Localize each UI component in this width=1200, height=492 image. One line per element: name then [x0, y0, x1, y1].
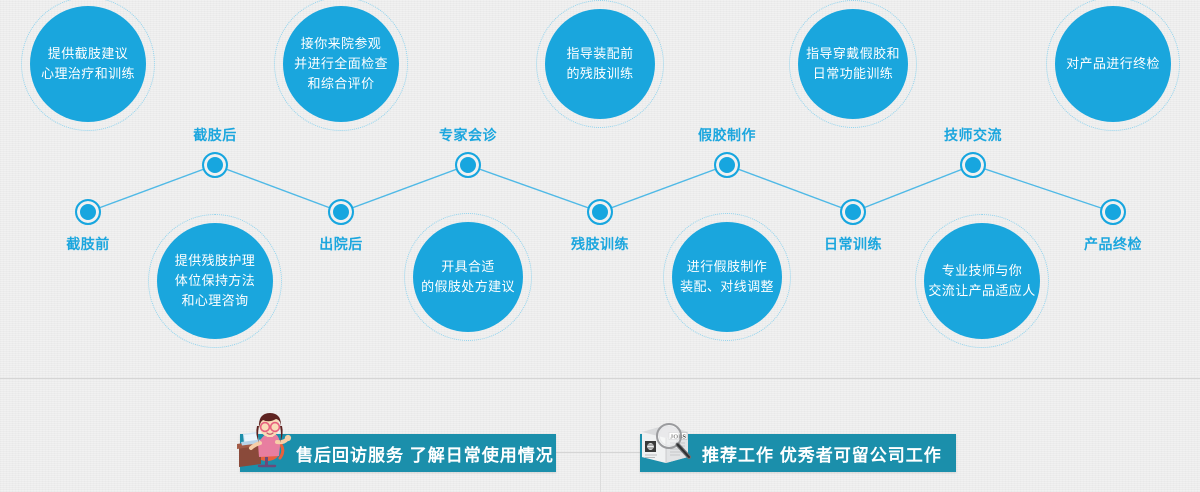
timeline-node-7[interactable] — [840, 199, 866, 225]
timeline-node-core — [593, 205, 607, 219]
timeline-node-9[interactable] — [1100, 199, 1126, 225]
timeline-node-5[interactable] — [587, 199, 613, 225]
timeline-node-8[interactable] — [960, 152, 986, 178]
timeline-node-label-4: 专家会诊 — [439, 125, 497, 145]
timeline-bubble-3[interactable]: 指导装配前 的残肢训练 — [545, 9, 655, 119]
timeline-node-label-5: 残肢训练 — [571, 234, 629, 254]
timeline-node-core — [720, 158, 734, 172]
woman-at-desk-icon — [236, 412, 294, 470]
timeline-node-label-2: 截肢后 — [193, 125, 237, 145]
timeline-node-3[interactable] — [328, 199, 354, 225]
timeline-node-4[interactable] — [455, 152, 481, 178]
timeline-node-core — [1106, 205, 1120, 219]
timeline-node-core — [334, 205, 348, 219]
timeline-bubble-2[interactable]: 接你来院参观 并进行全面检查 和综合评价 — [283, 6, 399, 122]
timeline-node-label-7: 日常训练 — [824, 234, 882, 254]
jobs-newspaper-magnifier-icon: JOBS — [636, 412, 694, 470]
banner-aftersales-label: 售后回访服务 了解日常使用情况 — [296, 441, 554, 466]
timeline-node-core — [81, 205, 95, 219]
timeline-node-core — [966, 158, 980, 172]
timeline-node-2[interactable] — [202, 152, 228, 178]
timeline-node-core — [461, 158, 475, 172]
timeline-bubble-9[interactable]: 专业技师与你 交流让产品适应人 — [924, 223, 1040, 339]
timeline-node-label-3: 出院后 — [319, 234, 363, 254]
timeline-bubble-4[interactable]: 指导穿戴假胶和 日常功能训练 — [798, 9, 908, 119]
timeline-node-label-9: 产品终检 — [1084, 234, 1142, 254]
timeline-node-1[interactable] — [75, 199, 101, 225]
process-timeline-diagram: 截肢前截肢后出院后专家会诊残肢训练假胶制作日常训练技师交流产品终检 提供截肢建议… — [0, 0, 1200, 492]
section-divider-vertical — [600, 379, 601, 492]
timeline-node-core — [208, 158, 222, 172]
timeline-bubble-6[interactable]: 提供残肢护理 体位保持方法 和心理咨询 — [157, 223, 273, 339]
timeline-bubble-5[interactable]: 对产品进行终检 — [1055, 6, 1171, 122]
timeline-node-6[interactable] — [714, 152, 740, 178]
timeline-node-core — [846, 205, 860, 219]
banner-connector-left — [556, 452, 602, 453]
timeline-bubble-8[interactable]: 进行假肢制作 装配、对线调整 — [672, 222, 782, 332]
timeline-node-label-1: 截肢前 — [66, 234, 110, 254]
timeline-node-label-8: 技师交流 — [944, 125, 1002, 145]
timeline-bubble-7[interactable]: 开具合适 的假肢处方建议 — [413, 222, 523, 332]
timeline-bubble-1[interactable]: 提供截肢建议 心理治疗和训练 — [30, 6, 146, 122]
timeline-node-label-6: 假胶制作 — [698, 125, 756, 145]
banner-job-placement-label: 推荐工作 优秀者可留公司工作 — [702, 441, 942, 466]
